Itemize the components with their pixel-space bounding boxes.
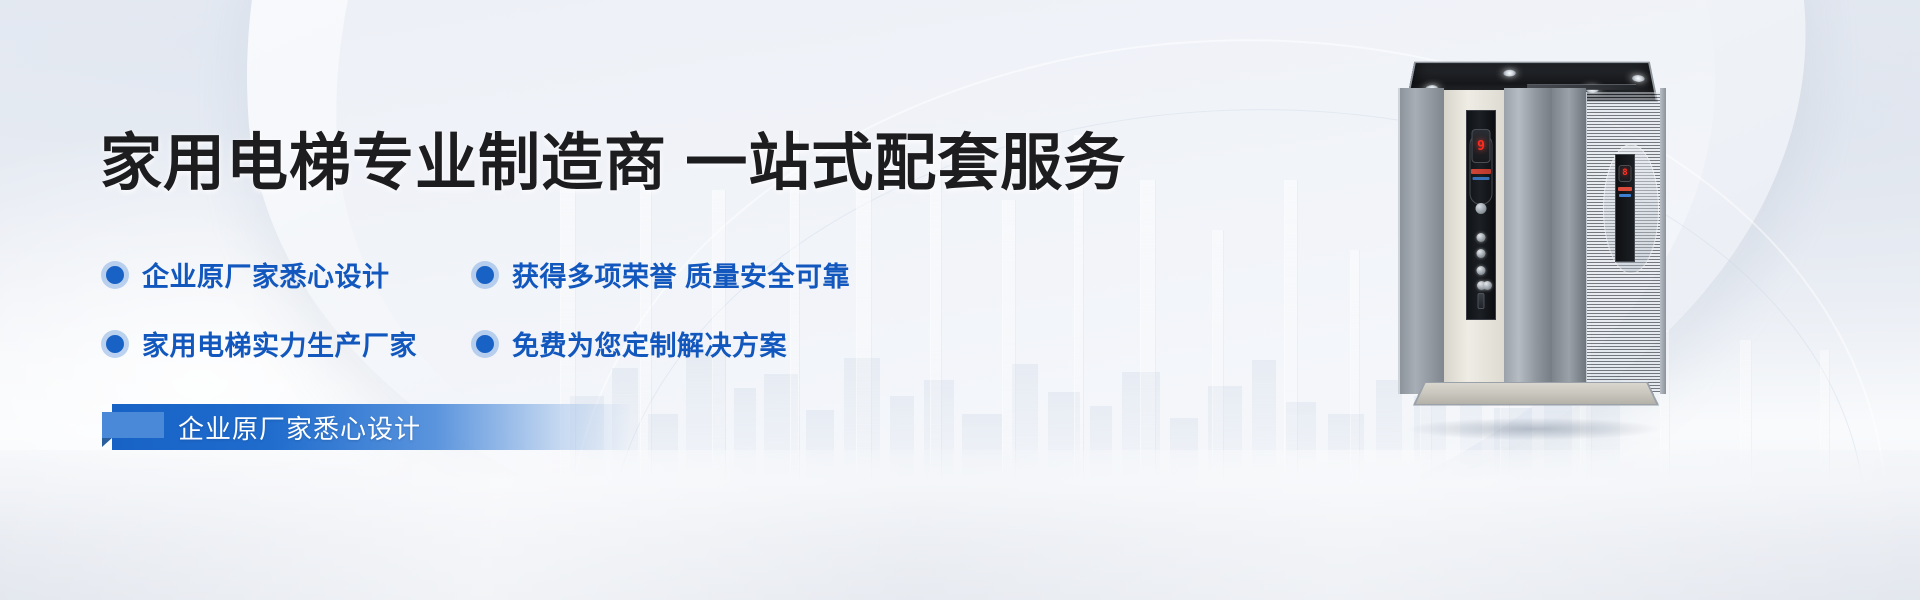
feature-label: 免费为您定制解决方案 <box>512 324 787 363</box>
feature-label: 企业原厂家悉心设计 <box>142 255 390 294</box>
led-digit: 9 <box>1477 140 1485 153</box>
call-button <box>1477 249 1486 258</box>
rear-led-display: 8 <box>1619 165 1632 182</box>
call-button <box>1477 233 1486 242</box>
control-panel: 9 <box>1466 110 1496 320</box>
list-item: 免费为您定制解决方案 <box>476 324 946 363</box>
rear-panel-brand-mark <box>1618 187 1632 191</box>
call-button <box>1477 266 1486 275</box>
background-pillar <box>1350 250 1360 480</box>
tag-label: 企业原厂家悉心设计 <box>178 404 421 450</box>
panel-indicator-button <box>1476 203 1487 214</box>
background-pillar <box>1284 180 1298 480</box>
door-close-button <box>1483 281 1492 290</box>
feature-label: 家用电梯实力生产厂家 <box>142 324 417 363</box>
highlight-tag: 企业原厂家悉心设计 <box>112 404 672 450</box>
cabin-floor <box>1413 382 1659 405</box>
banner-content: 家用电梯专业制造商 一站式配套服务 企业原厂家悉心设计 获得多项荣誉 质量安全可… <box>0 0 1180 600</box>
elevator-cabin: 9 8 <box>1398 88 1666 406</box>
ribbon-flag-icon <box>102 412 164 438</box>
panel-brand-submark <box>1473 177 1490 180</box>
page-title: 家用电梯专业制造商 一站式配套服务 <box>100 112 1126 202</box>
rear-control-panel: 8 <box>1615 154 1635 262</box>
cabin-steel-panel-secondary <box>1552 88 1586 394</box>
list-item: 获得多项荣誉 质量安全可靠 <box>476 255 946 294</box>
bullet-dot-icon <box>106 335 124 353</box>
feature-list: 企业原厂家悉心设计 获得多项荣誉 质量安全可靠 家用电梯实力生产厂家 免费为您定… <box>106 255 946 363</box>
promo-banner: 家用电梯专业制造商 一站式配套服务 企业原厂家悉心设计 获得多项荣誉 质量安全可… <box>0 0 1920 600</box>
panel-key-slot <box>1478 293 1485 309</box>
panel-brand-mark <box>1471 169 1491 174</box>
cabin-steel-panel <box>1504 88 1552 394</box>
home-elevator-image: 9 8 <box>1398 50 1666 418</box>
cabin-right-frame <box>1660 88 1666 394</box>
cabin-shadow <box>1408 418 1658 440</box>
list-item: 企业原厂家悉心设计 <box>106 255 476 294</box>
mirrored-back-wall: 8 <box>1586 92 1660 392</box>
ceiling-light-icon <box>1503 69 1516 76</box>
feature-label: 获得多项荣誉 质量安全可靠 <box>512 255 850 294</box>
rear-led-digit: 8 <box>1622 169 1627 178</box>
ceiling-light-icon <box>1632 75 1646 82</box>
list-item: 家用电梯实力生产厂家 <box>106 324 476 363</box>
bullet-dot-icon <box>476 335 494 353</box>
cabin-left-panel <box>1398 88 1444 394</box>
rear-panel-brand-submark <box>1619 194 1631 197</box>
background-pillar <box>1212 230 1224 480</box>
bullet-dot-icon <box>476 266 494 284</box>
led-floor-display: 9 <box>1472 129 1491 163</box>
bullet-dot-icon <box>106 266 124 284</box>
